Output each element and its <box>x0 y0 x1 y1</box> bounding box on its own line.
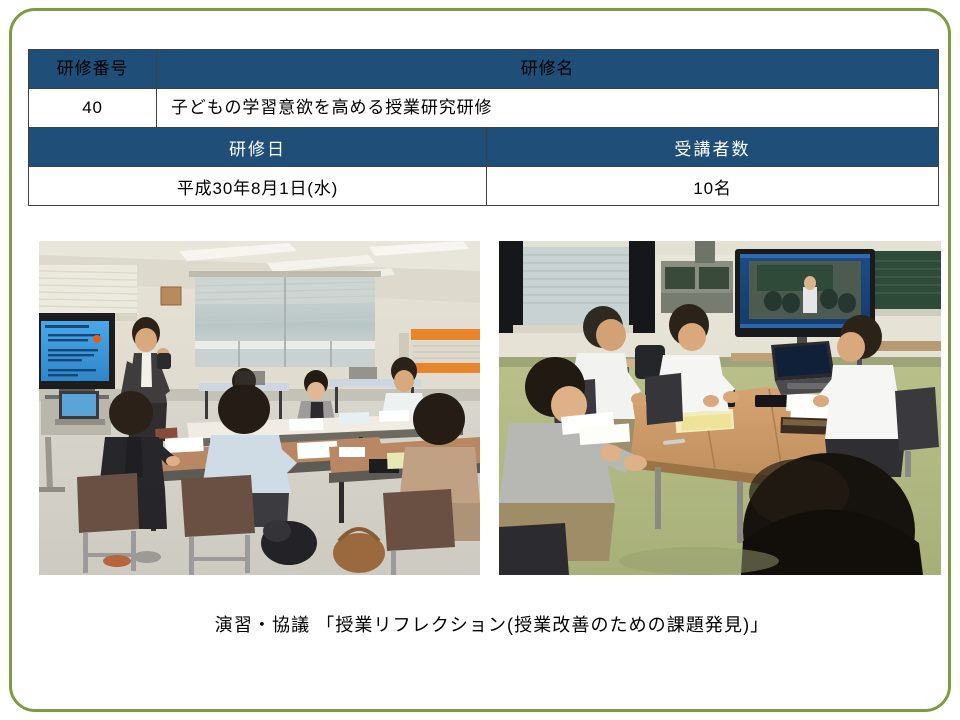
value-attendees: 10名 <box>487 167 939 206</box>
table-row-header-1: 研修番号 研修名 <box>29 50 939 89</box>
photo-row <box>39 241 941 575</box>
table-row-values-2: 平成30年8月1日(水) 10名 <box>29 167 939 206</box>
header-training-no: 研修番号 <box>29 50 157 89</box>
table-row-header-2: 研修日 受講者数 <box>29 128 939 167</box>
header-training-date: 研修日 <box>29 128 487 167</box>
lecture-room-photo <box>39 241 480 575</box>
value-training-no: 40 <box>29 89 157 128</box>
table-row-values-1: 40 子どもの学習意欲を高める授業研究研修 <box>29 89 939 128</box>
training-schedule-table: 研修日 受講者数 平成30年8月1日(水) 10名 <box>28 127 939 206</box>
header-attendees: 受講者数 <box>487 128 939 167</box>
value-training-name: 子どもの学習意欲を高める授業研究研修 <box>157 89 939 128</box>
slide-frame: 研修番号 研修名 40 子どもの学習意欲を高める授業研究研修 研修日 受講者数 … <box>9 8 951 712</box>
value-training-date: 平成30年8月1日(水) <box>29 167 487 206</box>
header-training-name: 研修名 <box>157 50 939 89</box>
training-info-table: 研修番号 研修名 40 子どもの学習意欲を高める授業研究研修 <box>28 49 939 128</box>
photo-caption: 演習・協議 「授業リフレクション(授業改善のための課題発見)」 <box>12 611 960 637</box>
group-discussion-photo <box>499 241 941 575</box>
